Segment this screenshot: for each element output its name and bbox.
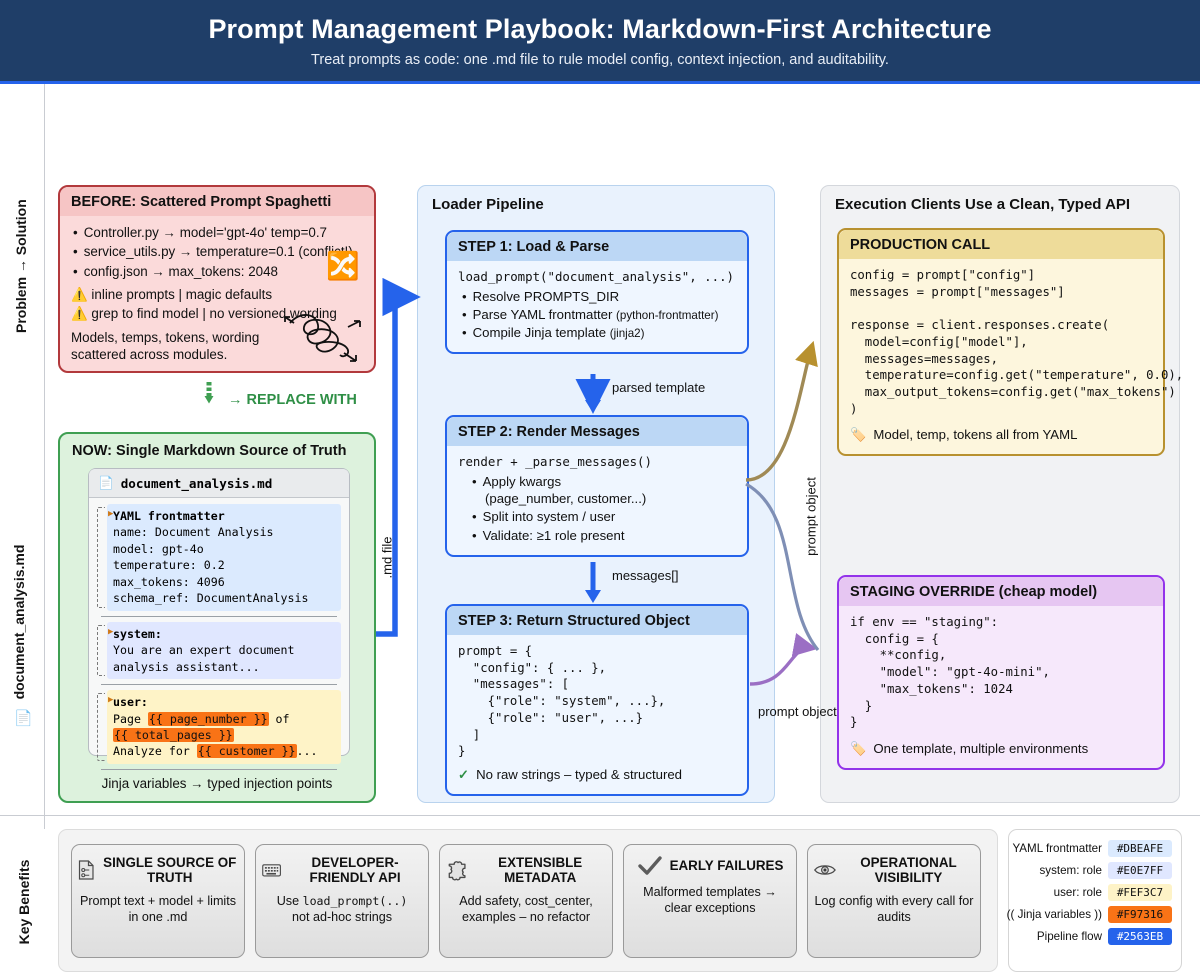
execution-panel-title: Execution Clients Use a Clean, Typed API xyxy=(821,186,1179,213)
edge-label-md-file: .md file xyxy=(380,523,395,593)
loader-pipeline-title: Loader Pipeline xyxy=(418,186,774,213)
benefit-card-extensible-metadata[interactable]: EXTENSIBLE METADATA Add safety, cost_cen… xyxy=(439,844,613,958)
yaml-frontmatter-segment: ▶ YAML frontmatter name: Document Analys… xyxy=(107,504,341,611)
benefit-desc: Use load_prompt(..) not ad-hoc strings xyxy=(277,893,408,926)
band-label-benefits: Key Benefits xyxy=(16,852,32,952)
step-3-code: prompt = { "config": { ... }, "messages"… xyxy=(458,643,736,760)
markdown-file-card: 📄 document_analysis.md ▶ YAML frontmatte… xyxy=(88,468,350,756)
legend-swatch: #2563EB xyxy=(1108,928,1172,945)
markdown-file-header: 📄 document_analysis.md xyxy=(89,469,349,498)
keyboard-icon xyxy=(262,860,281,880)
edge-label-parsed-template: parsed template xyxy=(612,380,705,395)
jinja-variable: {{ customer }} xyxy=(197,744,297,758)
puzzle-icon xyxy=(446,858,467,882)
production-call-code: config = prompt["config"] messages = pro… xyxy=(850,267,1152,417)
benefit-title: EARLY FAILURES xyxy=(670,858,784,873)
before-bullet-list: Controller.py → model='gpt-4o' temp=0.7 … xyxy=(73,224,363,281)
benefit-desc-post: not ad-hoc strings xyxy=(292,910,392,924)
legend-swatch: #FEF3C7 xyxy=(1108,884,1172,901)
step-2-code: render + _parse_messages() xyxy=(458,454,736,471)
benefit-header: OPERATIONAL VISIBILITY xyxy=(814,855,974,886)
tag-icon: 🏷️ xyxy=(850,740,866,758)
warning-text: inline prompts | magic defaults xyxy=(91,287,272,302)
benefit-desc: Add safety, cost_center, examples – no r… xyxy=(446,893,606,926)
edge-label-messages: messages[] xyxy=(612,568,678,583)
step-1-title: STEP 1: Load & Parse xyxy=(447,232,747,261)
execution-panel: Execution Clients Use a Clean, Typed API… xyxy=(820,185,1180,803)
benefit-title: DEVELOPER- FRIENDLY API xyxy=(288,855,422,886)
step-2-title: STEP 2: Render Messages xyxy=(447,417,747,446)
markdown-file-body: ▶ YAML frontmatter name: Document Analys… xyxy=(89,498,349,781)
check-icon: ✓ xyxy=(458,766,469,784)
step-1-card: STEP 1: Load & Parse load_prompt("docume… xyxy=(445,230,749,354)
caret-icon: ▶ xyxy=(108,694,113,707)
segment-key: user: xyxy=(113,694,335,710)
list-item: Split into system / user xyxy=(472,508,736,526)
segment-line: max_tokens: 4096 xyxy=(113,574,335,590)
list-item: Apply kwargs(page_number, customer...) xyxy=(472,473,736,508)
benefit-title: OPERATIONAL VISIBILITY xyxy=(843,855,974,886)
before-footer-text: Models, temps, tokens, wording scattered… xyxy=(71,329,286,364)
segment-line: {{ total_pages }} xyxy=(113,727,335,743)
segment-line: model: gpt-4o xyxy=(113,541,335,557)
legend-row: Pipeline flow #2563EB xyxy=(1018,928,1172,945)
step-3-check-text: No raw strings – typed & structured xyxy=(476,766,682,784)
edge-label-prompt-object-production: prompt object xyxy=(804,469,819,565)
benefit-title: EXTENSIBLE METADATA xyxy=(474,855,606,886)
caret-icon: ▶ xyxy=(108,626,113,639)
production-note-text: Model, temp, tokens all from YAML xyxy=(873,426,1077,444)
benefit-header: DEVELOPER- FRIENDLY API xyxy=(262,855,422,886)
benefit-header: SINGLE SOURCE OF TRUTH xyxy=(78,855,238,886)
eye-icon xyxy=(814,861,836,879)
key-benefits-row: SINGLE SOURCE OF TRUTH Prompt text + mod… xyxy=(59,830,997,972)
legend-row: system: role #E0E7FF xyxy=(1018,862,1172,879)
document-icon: 📄 xyxy=(14,709,33,727)
jinja-variable: {{ total_pages }} xyxy=(113,728,234,742)
now-card-title: NOW: Single Markdown Source of Truth xyxy=(60,434,374,465)
legend-row: YAML frontmatter #DBEAFE xyxy=(1018,840,1172,857)
segment-key: YAML frontmatter xyxy=(113,508,335,524)
list-item: Parse YAML frontmatter (python-frontmatt… xyxy=(462,306,736,324)
markdown-file-name: document_analysis.md xyxy=(121,476,273,491)
document-code-icon xyxy=(78,857,94,883)
warning-row: ⚠️ inline prompts | magic defaults xyxy=(71,286,363,304)
divider xyxy=(101,684,337,685)
step-2-card: STEP 2: Render Messages render + _parse_… xyxy=(445,415,749,557)
benefit-desc: Log config with every call for audits xyxy=(814,893,974,926)
segment-line: Page {{ page_number }} of xyxy=(113,711,335,727)
benefit-card-operational-visibility[interactable]: OPERATIONAL VISIBILITY Log config with e… xyxy=(807,844,981,958)
band-divider-bottom xyxy=(0,815,1200,816)
tag-icon: 🏷️ xyxy=(850,426,866,444)
production-call-card: PRODUCTION CALL config = prompt["config"… xyxy=(837,228,1165,456)
segment-line: You are an expert document xyxy=(113,642,335,658)
band-divider-left xyxy=(44,84,45,829)
before-card-title: BEFORE: Scattered Prompt Spaghetti xyxy=(60,187,374,216)
segment-line: Analyze for {{ customer }}... xyxy=(113,743,335,759)
replace-with-label: → REPLACE WITH xyxy=(228,392,357,408)
legend-label: (( Jinja variables )) xyxy=(1007,908,1102,921)
legend-swatch: #DBEAFE xyxy=(1108,840,1172,857)
legend-label: user: role xyxy=(1054,886,1102,899)
segment-line: name: Document Analysis xyxy=(113,524,335,540)
staging-override-code: if env == "staging": config = { **config… xyxy=(850,614,1152,731)
document-icon: 📄 xyxy=(98,475,114,491)
replace-arrow-icon xyxy=(203,374,215,412)
benefit-title: SINGLE SOURCE OF TRUTH xyxy=(101,855,238,886)
step-1-code: load_prompt("document_analysis", ...) xyxy=(458,269,736,286)
list-item: Controller.py → model='gpt-4o' temp=0.7 xyxy=(73,224,363,242)
list-item: service_utils.py → temperature=0.1 (conf… xyxy=(73,243,363,261)
benefit-card-single-source[interactable]: SINGLE SOURCE OF TRUTH Prompt text + mod… xyxy=(71,844,245,958)
check-icon xyxy=(637,855,663,877)
list-item: Validate: ≥1 role present xyxy=(472,527,736,545)
page-subtitle: Treat prompts as code: one .md file to r… xyxy=(311,52,889,68)
legend-label: YAML frontmatter xyxy=(1012,842,1102,855)
legend-swatch: #F97316 xyxy=(1108,906,1172,923)
annotation: (python-frontmatter) xyxy=(616,309,718,322)
production-note-row: 🏷️ Model, temp, tokens all from YAML xyxy=(850,426,1152,444)
list-item: config.json → max_tokens: 2048 xyxy=(73,263,363,281)
benefit-card-early-failures[interactable]: EARLY FAILURES Malformed templates → cle… xyxy=(623,844,797,958)
band-label-problem: Problem → Solution xyxy=(13,223,29,333)
segment-line: analysis assistant... xyxy=(113,659,335,675)
band-label-document: document_analysis.md xyxy=(11,537,27,707)
loader-pipeline-panel: Loader Pipeline STEP 1: Load & Parse loa… xyxy=(417,185,775,803)
step-3-check-row: ✓ No raw strings – typed & structured xyxy=(458,766,736,784)
scatter-arrows-icon: 🔀 xyxy=(326,253,360,280)
now-footer-text: Jinja variables → typed injection points xyxy=(60,776,374,791)
system-role-segment: ▶ system: You are an expert document ana… xyxy=(107,622,341,679)
color-legend: YAML frontmatter #DBEAFE system: role #E… xyxy=(1008,829,1182,972)
page-title: Prompt Management Playbook: Markdown-Fir… xyxy=(208,14,991,45)
staging-note-text: One template, multiple environments xyxy=(873,740,1088,758)
warning-icon: ⚠️ xyxy=(71,287,88,302)
before-card: BEFORE: Scattered Prompt Spaghetti Contr… xyxy=(58,185,376,373)
production-call-title: PRODUCTION CALL xyxy=(839,230,1163,259)
segment-key: system: xyxy=(113,626,335,642)
warning-icon: ⚠️ xyxy=(71,306,88,321)
legend-label: Pipeline flow xyxy=(1037,930,1102,943)
benefit-header: EARLY FAILURES xyxy=(637,855,784,877)
divider xyxy=(101,616,337,617)
user-role-segment: ▶ user: Page {{ page_number }} of {{ tot… xyxy=(107,690,341,764)
diagram-stage: Problem → Solution document_analysis.md … xyxy=(0,84,1200,896)
benefit-desc: Prompt text + model + limits in one .md xyxy=(78,893,238,926)
step-2-bullets: Apply kwargs(page_number, customer...) S… xyxy=(472,473,736,545)
now-card: NOW: Single Markdown Source of Truth 📄 d… xyxy=(58,432,376,803)
benefit-desc: Malformed templates → clear exceptions xyxy=(630,884,790,917)
page-header: Prompt Management Playbook: Markdown-Fir… xyxy=(0,0,1200,84)
legend-label: system: role xyxy=(1040,864,1103,877)
staging-override-title: STAGING OVERRIDE (cheap model) xyxy=(839,577,1163,606)
step-1-bullets: Resolve PROMPTS_DIR Parse YAML frontmatt… xyxy=(462,288,736,342)
segment-line: schema_ref: DocumentAnalysis xyxy=(113,590,335,606)
legend-swatch: #E0E7FF xyxy=(1108,862,1172,879)
annotation: (jinja2) xyxy=(610,327,645,340)
tangle-scribble-icon xyxy=(282,309,368,365)
key-benefits-band: SINGLE SOURCE OF TRUTH Prompt text + mod… xyxy=(58,829,998,972)
list-item: Resolve PROMPTS_DIR xyxy=(462,288,736,306)
jinja-variable: {{ page_number }} xyxy=(148,712,269,726)
step-3-title: STEP 3: Return Structured Object xyxy=(447,606,747,635)
benefit-card-developer-api[interactable]: DEVELOPER- FRIENDLY API Use load_prompt(… xyxy=(255,844,429,958)
divider xyxy=(101,769,337,770)
staging-note-row: 🏷️ One template, multiple environments xyxy=(850,740,1152,758)
staging-override-card: STAGING OVERRIDE (cheap model) if env ==… xyxy=(837,575,1165,770)
segment-line: temperature: 0.2 xyxy=(113,557,335,573)
edge-label-prompt-object-staging: prompt object xyxy=(758,704,820,720)
step-3-card: STEP 3: Return Structured Object prompt … xyxy=(445,604,749,796)
benefit-header: EXTENSIBLE METADATA xyxy=(446,855,606,886)
legend-row: (( Jinja variables )) #F97316 xyxy=(1018,906,1172,923)
legend-row: user: role #FEF3C7 xyxy=(1018,884,1172,901)
list-item: Compile Jinja template (jinja2) xyxy=(462,324,736,342)
caret-icon: ▶ xyxy=(108,508,113,521)
